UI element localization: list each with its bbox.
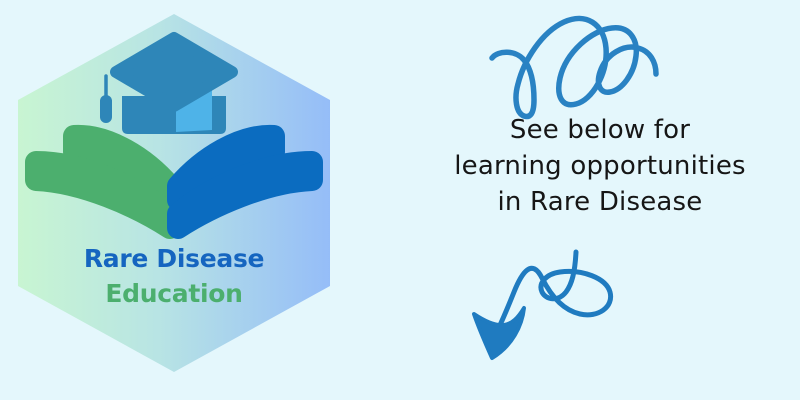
callout-line-3: in Rare Disease	[410, 184, 790, 220]
callout-panel: See below for learning opportunities in …	[400, 0, 800, 400]
callout-line-2: learning opportunities	[410, 148, 790, 184]
promo-banner: Rare Disease Education See below for lea…	[0, 0, 800, 400]
badge-title-line-2: Education	[18, 281, 330, 306]
badge-artwork	[0, 0, 360, 400]
graduation-cap-tassel-bob	[100, 95, 112, 123]
callout-text: See below for learning opportunities in …	[410, 112, 790, 220]
callout-line-1: See below for	[410, 112, 790, 148]
rare-disease-education-badge: Rare Disease Education	[0, 0, 360, 400]
badge-title-line-1: Rare Disease	[18, 246, 330, 271]
